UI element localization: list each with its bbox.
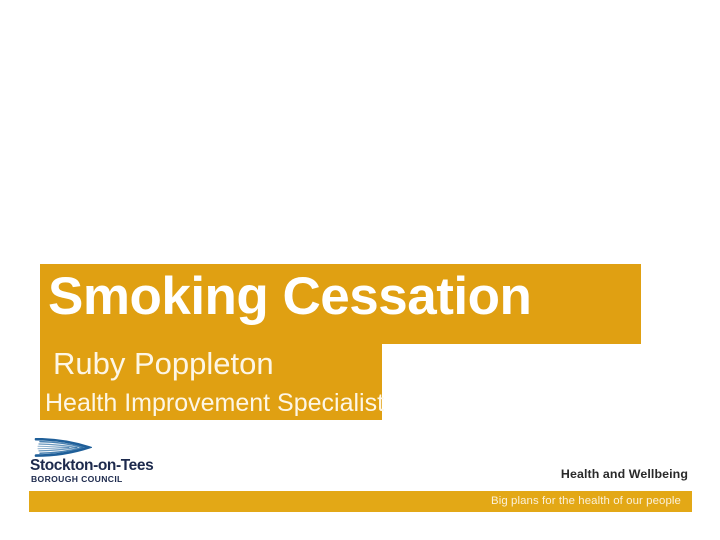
wave-chevron-icon <box>34 438 92 457</box>
presenter-name: Ruby Poppleton <box>53 348 274 379</box>
slide-title: Smoking Cessation <box>48 270 648 323</box>
footer-bar: Big plans for the health of our people <box>29 491 692 512</box>
health-wellbeing-title: Health and Wellbeing <box>561 468 688 480</box>
presenter-role: Health Improvement Specialist <box>45 391 384 416</box>
logo-council-subtitle: BOROUGH COUNCIL <box>31 475 123 484</box>
logo-council-name: Stockton-on-Tees <box>30 458 153 474</box>
footer-tagline: Big plans for the health of our people <box>491 491 692 512</box>
presentation-slide: Smoking Cessation Ruby Poppleton Health … <box>0 0 720 540</box>
stockton-on-tees-logo: Stockton-on-Tees BOROUGH COUNCIL <box>30 438 160 486</box>
